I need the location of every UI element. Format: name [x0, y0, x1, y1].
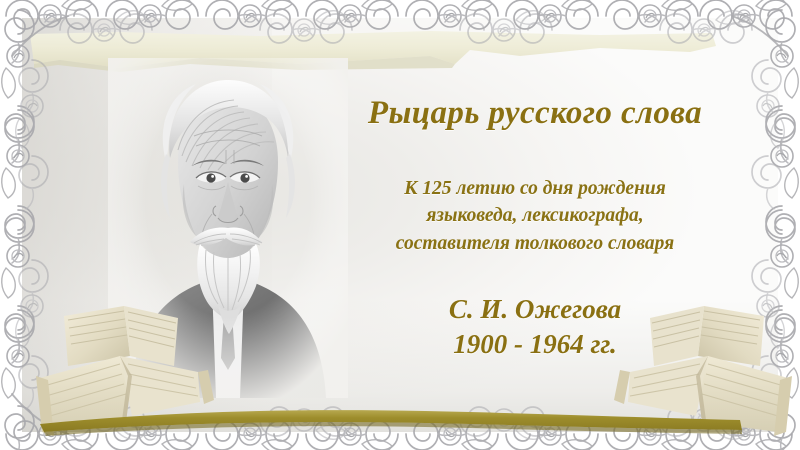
person-dates: 1900 - 1964 гг. — [340, 327, 730, 362]
poster-subtitle: К 125 летию со дня рождения языковеда, л… — [340, 175, 730, 258]
subtitle-line-2: языковеда, лексикографа, — [340, 202, 730, 230]
poster-canvas: Рыцарь русского слова К 125 летию со дня… — [0, 0, 800, 450]
poster-text-block: Рыцарь русского слова К 125 летию со дня… — [340, 96, 730, 362]
subtitle-line-1: К 125 летию со дня рождения — [340, 175, 730, 203]
person-block: С. И. Ожегова 1900 - 1964 гг. — [340, 292, 730, 362]
subtitle-line-3: составителя толкового словаря — [340, 230, 730, 258]
olive-shelf-band — [0, 398, 800, 440]
person-name: С. И. Ожегова — [340, 292, 730, 327]
page-title: Рыцарь русского слова — [340, 96, 730, 131]
